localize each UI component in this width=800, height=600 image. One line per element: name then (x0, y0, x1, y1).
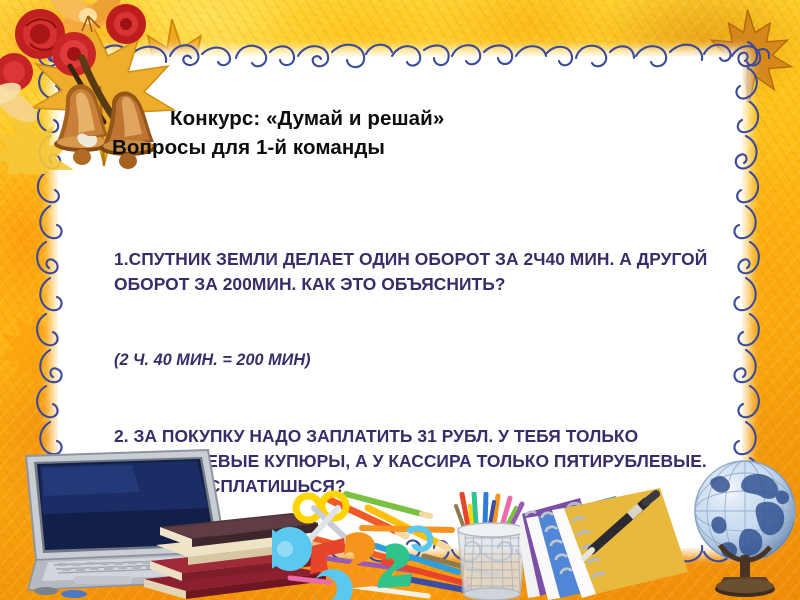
spiral-notebooks-image (520, 480, 710, 600)
globe-image (690, 455, 800, 600)
page-title: Конкурс: «Думай и решай» (112, 104, 672, 133)
question-1-text: 1.СПУТНИК ЗЕМЛИ ДЕЛАЕТ ОДИН ОБОРОТ ЗА 2Ч… (114, 247, 714, 298)
page-subtitle: Вопросы для 1-й команды (112, 133, 672, 162)
question-1-answer: (2 Ч. 40 МИН. = 200 МИН) (114, 348, 714, 373)
slide-heading: Конкурс: «Думай и решай» Вопросы для 1-й… (112, 104, 672, 162)
presentation-slide: Конкурс: «Думай и решай» Вопросы для 1-й… (0, 0, 800, 600)
